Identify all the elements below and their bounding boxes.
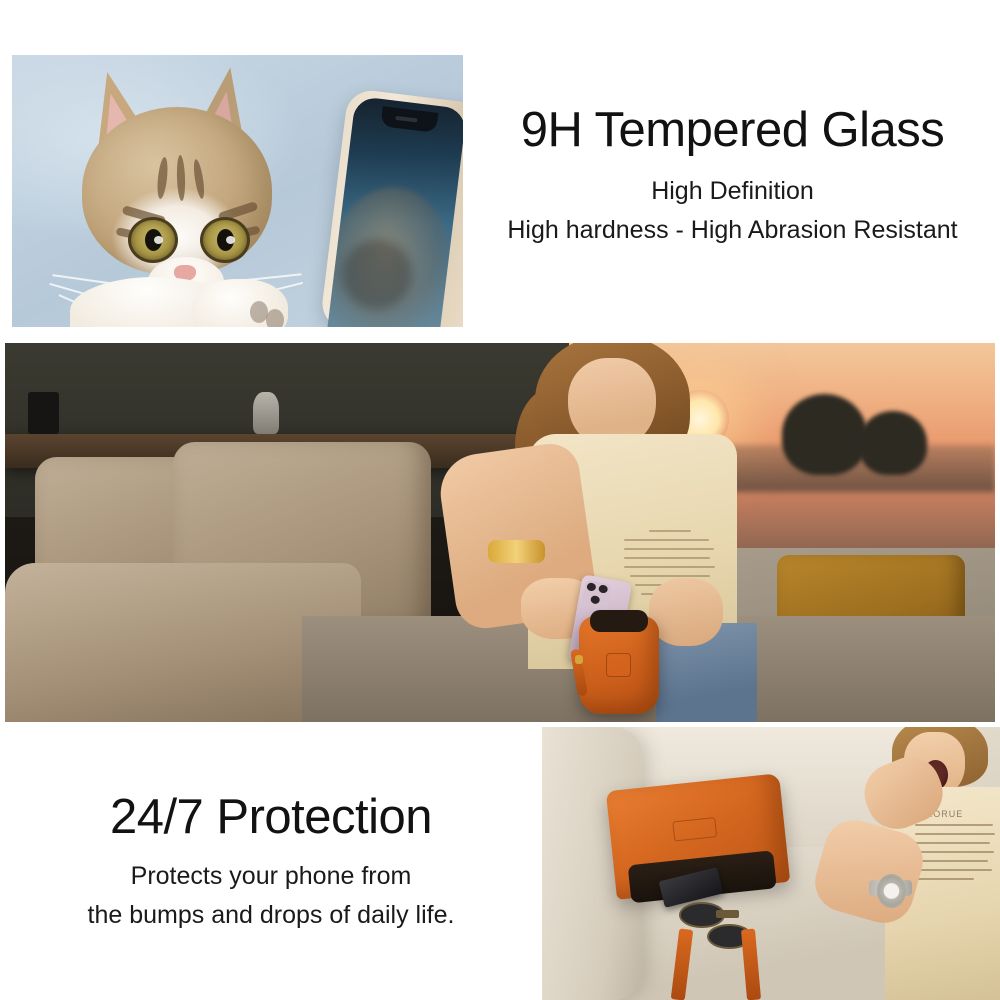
fur-stripe bbox=[192, 159, 206, 200]
fur-stripe bbox=[156, 157, 169, 200]
camera-lens bbox=[598, 585, 608, 594]
feature-block-bottom: 24/7 Protection Protects your phone from… bbox=[22, 792, 520, 930]
earpiece-speaker bbox=[395, 116, 417, 123]
dark-decor-box bbox=[28, 392, 59, 434]
gold-chain-bracelet bbox=[488, 540, 545, 563]
kitten-left-eye bbox=[128, 217, 178, 263]
orange-leather-handbag bbox=[579, 616, 660, 715]
paw-toe bbox=[266, 309, 284, 327]
subline-high-hardness: High hardness - High Abrasion Resistant bbox=[470, 216, 995, 245]
kitten-head bbox=[82, 107, 272, 275]
photo-woman-placing-phone-in-handbag bbox=[5, 343, 995, 722]
product-marketing-collage: TRORUE 9H Tempered Glass High Definition… bbox=[0, 0, 1000, 1000]
camera-lens bbox=[587, 582, 597, 591]
subline-high-definition: High Definition bbox=[470, 177, 995, 206]
tree-silhouette bbox=[782, 394, 867, 475]
kitten-right-eye bbox=[200, 217, 250, 263]
bag-opening bbox=[590, 610, 648, 632]
bag-brand-tag bbox=[606, 653, 631, 677]
shocked-woman-figure: TRORUE bbox=[808, 727, 1000, 1000]
eye-glint bbox=[154, 236, 163, 244]
feature-block-top: 9H Tempered Glass High Definition High h… bbox=[470, 105, 995, 245]
kitten-paw bbox=[192, 279, 288, 327]
camera-plate bbox=[582, 580, 612, 610]
sunglasses-bridge bbox=[716, 910, 739, 918]
camera-lens bbox=[590, 595, 600, 604]
subline-bumps-and-drops: the bumps and drops of daily life. bbox=[22, 901, 520, 930]
bag-brand-tag bbox=[672, 817, 718, 841]
photo-woman-dropping-handbag: TRORUE bbox=[542, 727, 1000, 1000]
bag-zipper-pull bbox=[575, 655, 582, 664]
pupil bbox=[217, 229, 234, 251]
tree-silhouette bbox=[859, 411, 927, 475]
eye-glint bbox=[226, 236, 235, 244]
phone-notch bbox=[380, 106, 438, 133]
headline-24-7-protection: 24/7 Protection bbox=[22, 792, 520, 844]
pupil bbox=[145, 229, 162, 251]
right-hand bbox=[649, 578, 723, 646]
fur-stripe bbox=[176, 155, 186, 201]
photo-kitten-touching-phone bbox=[12, 55, 463, 327]
white-vase bbox=[253, 392, 278, 434]
headline-9h-tempered-glass: 9H Tempered Glass bbox=[470, 105, 995, 157]
tank-top-print bbox=[915, 820, 996, 902]
woman-figure bbox=[441, 343, 778, 722]
subline-protects-your-phone: Protects your phone from bbox=[22, 862, 520, 891]
tank-top-print bbox=[624, 528, 716, 580]
kitten-figure bbox=[64, 65, 314, 327]
